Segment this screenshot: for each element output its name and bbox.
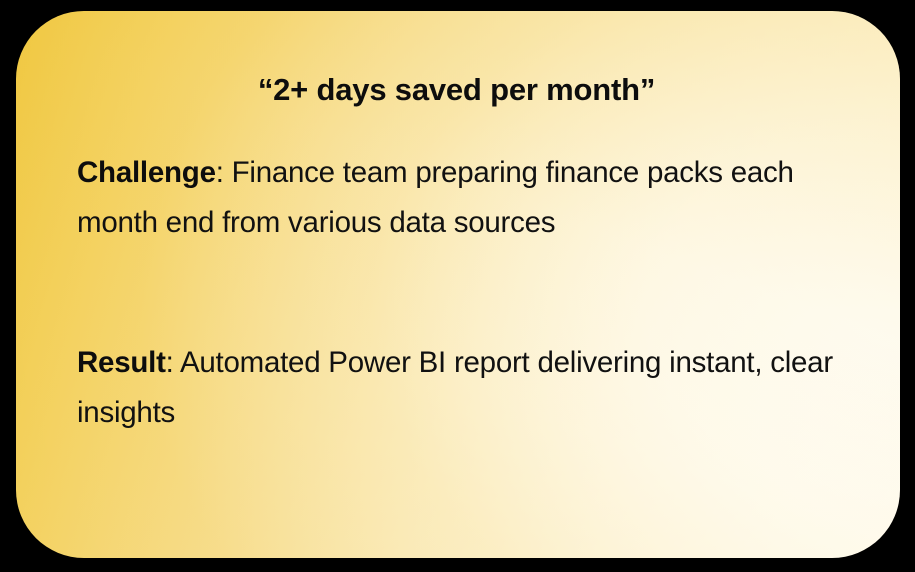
result-label: Result — [77, 346, 166, 379]
challenge-label: Challenge — [77, 156, 216, 189]
result-paragraph: Result: Automated Power BI report delive… — [77, 338, 840, 438]
challenge-separator: : — [216, 156, 232, 189]
card-headline-quote: “2+ days saved per month” — [77, 70, 836, 110]
screenshot-canvas: “2+ days saved per month” Challenge: Fin… — [0, 0, 915, 572]
card-content: “2+ days saved per month” Challenge: Fin… — [16, 11, 900, 558]
case-study-card: “2+ days saved per month” Challenge: Fin… — [16, 11, 900, 558]
result-text: Automated Power BI report delivering ins… — [77, 346, 833, 429]
result-separator: : — [166, 346, 180, 379]
challenge-paragraph: Challenge: Finance team preparing financ… — [77, 148, 840, 248]
